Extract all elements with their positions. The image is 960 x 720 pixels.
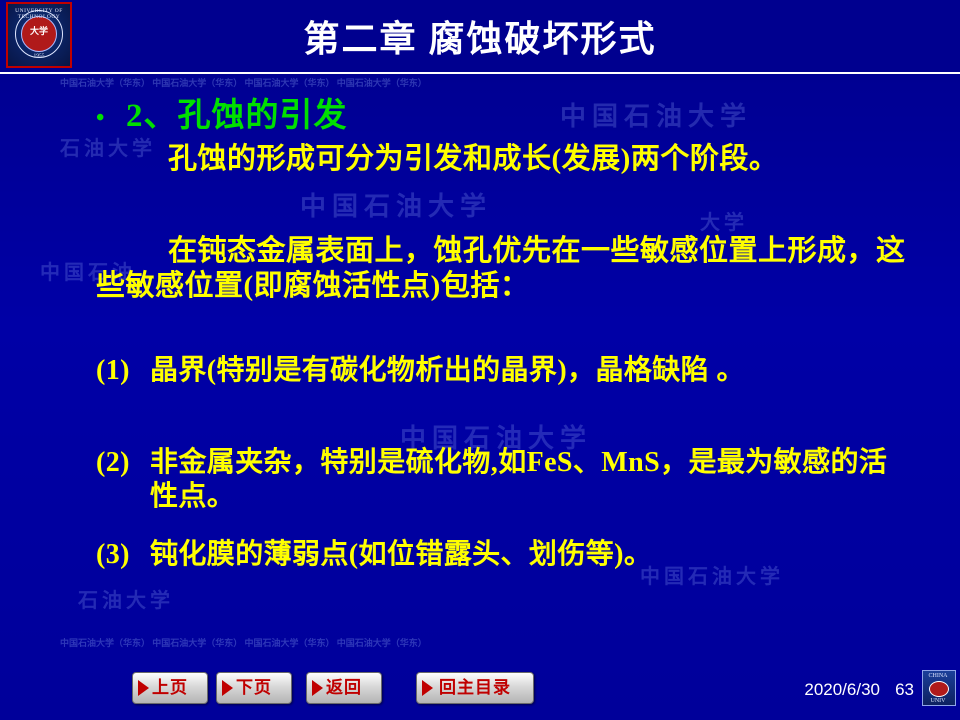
list-item-text: 晶界(特别是有碳化物析出的晶界)，晶格缺陷 。 bbox=[150, 354, 906, 388]
corner-logo-top-text: CHINA bbox=[923, 673, 953, 679]
slide-title-bar: UNIVERSITY OF TECHNOLOGY 大学 1955 第二章 腐蚀破… bbox=[0, 0, 960, 74]
bullet-icon: • bbox=[96, 105, 126, 132]
main-menu-button[interactable]: 回主目录 bbox=[416, 672, 534, 704]
prev-page-label: 上页 bbox=[152, 678, 188, 697]
slide-navigation-bar: 上页 下页 返回 回主目录 2020/6/30 63 CHINA UNIV bbox=[0, 662, 960, 720]
corner-logo: CHINA UNIV bbox=[922, 670, 956, 706]
back-label: 返回 bbox=[326, 678, 362, 697]
list-item-label: (3) bbox=[96, 538, 150, 572]
list-item-label: (2) bbox=[96, 446, 150, 513]
next-page-label: 下页 bbox=[236, 678, 272, 697]
triangle-right-icon bbox=[222, 680, 233, 696]
triangle-right-icon bbox=[138, 680, 149, 696]
corner-logo-bottom-text: UNIV bbox=[923, 698, 953, 704]
list-item-text: 钝化膜的薄弱点(如位错露头、划伤等)。 bbox=[150, 538, 906, 572]
slide-page-number: 63 bbox=[895, 680, 914, 700]
slide-date: 2020/6/30 bbox=[804, 680, 880, 700]
slide-canvas: 中国石油大学（华东） 中国石油大学（华东） 中国石油大学（华东） 中国石油大学（… bbox=[0, 0, 960, 720]
page-title: 第二章 腐蚀破坏形式 bbox=[0, 10, 960, 62]
list-item-label: (1) bbox=[96, 354, 150, 388]
corner-logo-emblem bbox=[929, 681, 949, 697]
paragraph-2: 在钝态金属表面上，蚀孔优先在一些敏感位置上形成，这些敏感位置(即腐蚀活性点)包括… bbox=[96, 234, 906, 305]
triangle-right-icon bbox=[422, 680, 433, 696]
list-item-text: 非金属夹杂，特别是硫化物,如FeS、MnS，是最为敏感的活性点。 bbox=[150, 446, 906, 513]
prev-page-button[interactable]: 上页 bbox=[132, 672, 208, 704]
next-page-button[interactable]: 下页 bbox=[216, 672, 292, 704]
section-heading: 2、孔蚀的引发 bbox=[126, 98, 348, 134]
back-button[interactable]: 返回 bbox=[306, 672, 382, 704]
main-menu-label: 回主目录 bbox=[439, 678, 511, 697]
slide-content: •2、孔蚀的引发 孔蚀的形成可分为引发和成长(发展)两个阶段。 在钝态金属表面上… bbox=[0, 74, 960, 664]
paragraph-1: 孔蚀的形成可分为引发和成长(发展)两个阶段。 bbox=[96, 142, 896, 177]
heading-row: •2、孔蚀的引发 bbox=[96, 88, 916, 136]
list-item: (2) 非金属夹杂，特别是硫化物,如FeS、MnS，是最为敏感的活性点。 bbox=[96, 446, 906, 513]
list-item: (1) 晶界(特别是有碳化物析出的晶界)，晶格缺陷 。 bbox=[96, 354, 906, 388]
triangle-right-icon bbox=[312, 680, 323, 696]
list-item: (3) 钝化膜的薄弱点(如位错露头、划伤等)。 bbox=[96, 538, 906, 572]
